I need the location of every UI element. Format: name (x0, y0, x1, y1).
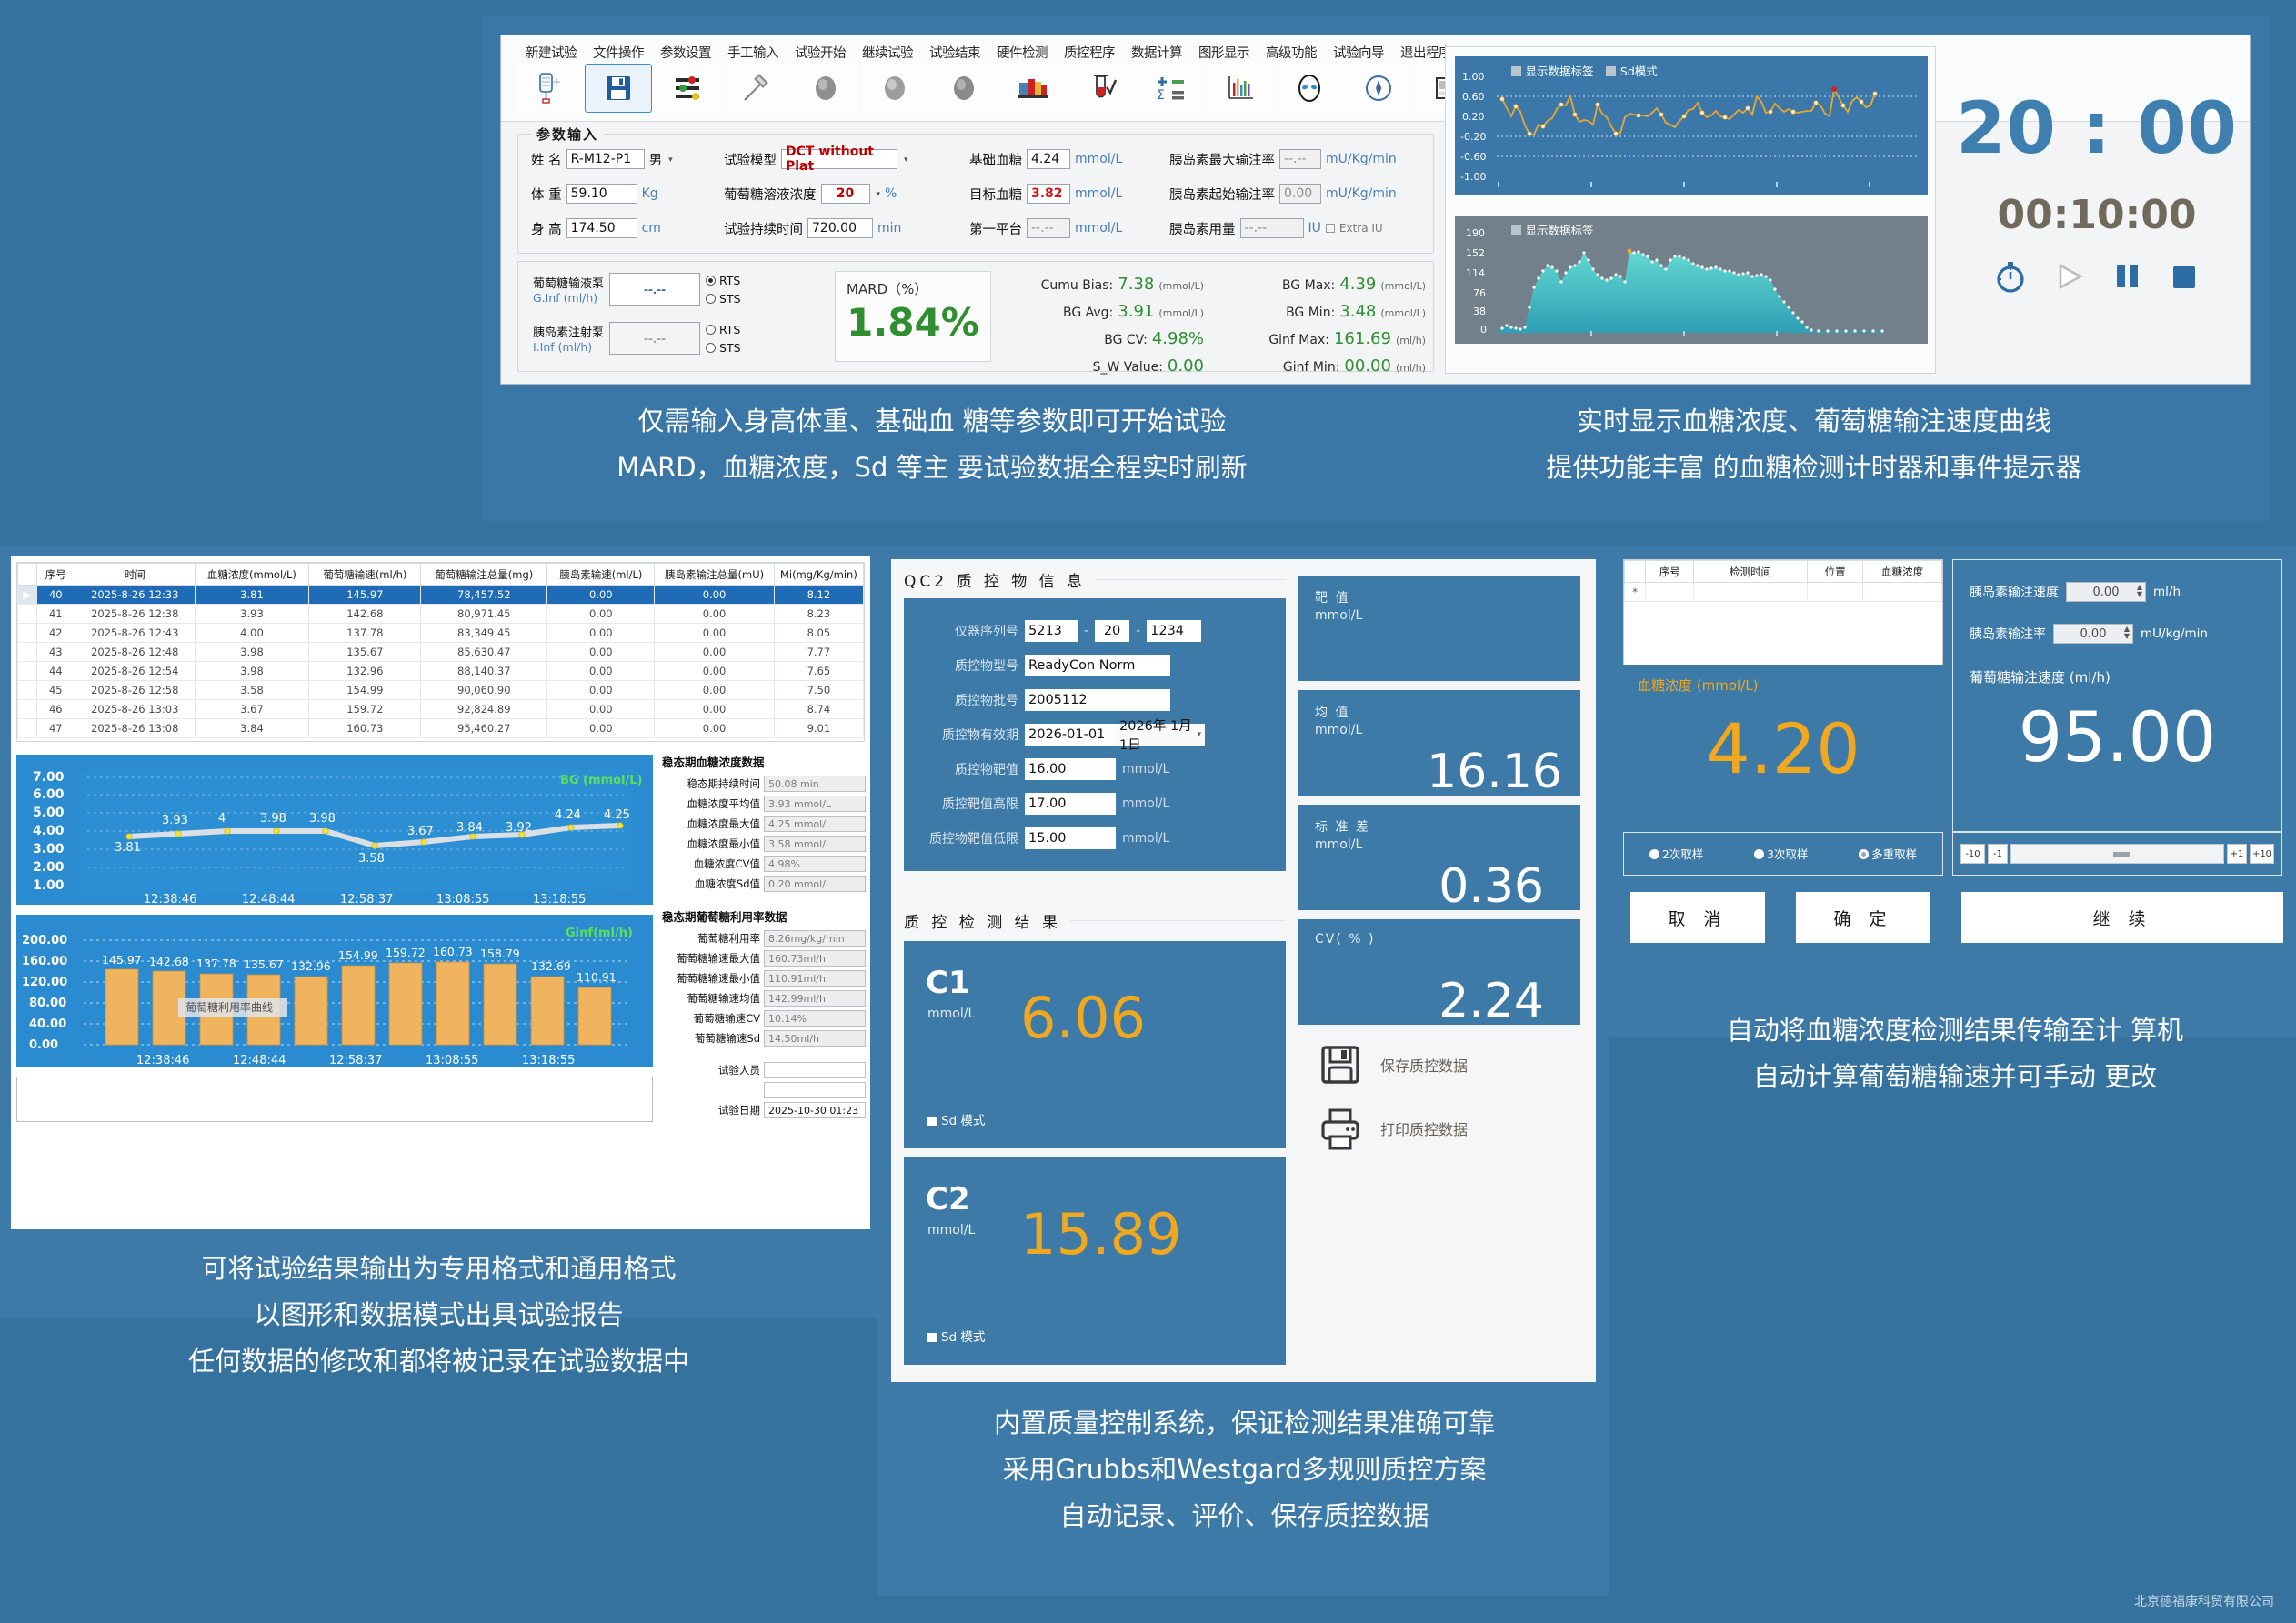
slider-thumb[interactable] (2113, 852, 2130, 857)
svg-text:110.91: 110.91 (577, 970, 617, 984)
stats-column-right: BG Max: 4.39 (mmol/L) BG Min: 3.48 (mmol… (1217, 275, 1426, 376)
sd-bias-chart[interactable]: 显示数据标签 Sd模式 1.000.600.20 -0.20-0.60-1.00 (1455, 56, 1928, 195)
qc-exp-input[interactable]: 2026-01-01 (1025, 724, 1116, 746)
svg-text:12:48:44: 12:48:44 (242, 893, 295, 905)
table-row[interactable]: ▶402025-8-26 12:333.81145.9778,457.520.0… (18, 586, 864, 605)
svg-text:13:18:55: 13:18:55 (533, 893, 586, 905)
cell-bg: 3.98 (195, 643, 309, 662)
ginf-max-label: Ginf Max: (1268, 333, 1329, 347)
cell-iinf: 0.00 (547, 700, 655, 719)
gi-stat-value-1: 160.73ml/h (764, 950, 866, 967)
ribbon-label-test-end[interactable]: 试验结束 (921, 43, 988, 62)
slider-minus10-button[interactable]: -10 (1960, 844, 1985, 864)
alien-advanced-icon[interactable] (1276, 64, 1343, 113)
test-date-label: 试验日期 (718, 1103, 760, 1117)
qc-low-label: 质控物靶值低限 (917, 829, 1018, 847)
bg-line-chart[interactable]: 7.006.005.004.003.002.001.00 3.813.9343.… (16, 755, 653, 905)
qc-target-input[interactable]: 16.00 (1025, 758, 1116, 780)
cell-time: 2025-8-26 12:38 (75, 605, 195, 624)
svg-text:12:58:37: 12:58:37 (340, 893, 393, 905)
svg-text:137.78: 137.78 (196, 957, 236, 970)
chevron-down-icon-conc[interactable]: ▾ (877, 189, 881, 199)
cell-time: 2025-8-26 12:54 (75, 662, 195, 681)
cumu-bias-value: 7.38 (1118, 275, 1154, 294)
right-caption-line1: 自动将血糖浓度检测结果传输至计 算机 (1619, 1007, 2291, 1054)
model-select[interactable]: DCT without Plat (781, 149, 897, 169)
svg-text:1.00: 1.00 (1462, 71, 1485, 83)
bg-stat-value-3: 3.58 mmol/L (764, 836, 866, 852)
ribbon-label-test-start[interactable]: 试验开始 (787, 43, 854, 62)
duration-input[interactable]: 720.00 (807, 218, 873, 238)
measurement-empty-row[interactable]: * (1625, 583, 1942, 602)
target-tile-unit: mmol/L (1315, 608, 1362, 623)
top-caption-left-line2: MARD，血糖浓度，Sd 等主 要试验数据全程实时刷新 (509, 445, 1355, 491)
right-captions: 自动将血糖浓度检测结果传输至计 算机 自动计算葡萄糖输速并可手动 更改 (1619, 1007, 2291, 1100)
svg-text:0.00: 0.00 (29, 1038, 58, 1052)
extra-iu-checkbox[interactable] (1326, 224, 1335, 233)
row-marker (18, 605, 37, 624)
th-bg[interactable]: 血糖浓度(mmol/L) (195, 564, 309, 586)
ginf-bar-chart[interactable]: 200.00160.00120.0080.0040.000.00 145.971… (16, 915, 653, 1067)
main-app-window: 新建试验 文件操作 参数设置 手工输入 试验开始 继续试验 试验结束 硬件检测 … (500, 35, 2251, 385)
action-buttons: 取 消 确 定 继 续 (1630, 892, 2283, 943)
bg-cv-label: BG CV: (1104, 333, 1148, 347)
ginf-chart-legend: Ginf(ml/h) (566, 927, 633, 940)
chart-area: 显示数据标签 Sd模式 1.000.600.20 -0.20-0.60-1.00 (1445, 46, 1936, 374)
play-icon[interactable] (2050, 258, 2087, 295)
serial-dash-1: - (1084, 624, 1088, 638)
insulin-max-input[interactable]: --.-- (1279, 149, 1321, 169)
base-bg-input[interactable]: 4.24 (1027, 149, 1070, 169)
insulin-start-input[interactable]: 0.00 (1279, 184, 1321, 204)
bg-stat-label-4: 血糖浓度CV值 (694, 857, 760, 871)
svg-text:13:08:55: 13:08:55 (436, 893, 489, 905)
stopwatch-icon[interactable] (1992, 258, 2029, 295)
pause-icon[interactable] (2109, 258, 2145, 295)
sd-tile-value: 0.36 (1439, 859, 1544, 914)
th-itotal[interactable]: 胰岛素输注总量(mU) (655, 564, 774, 586)
cell-bg: 3.84 (195, 719, 309, 738)
svg-text:3.81: 3.81 (115, 841, 141, 855)
slider-plus10-button[interactable]: +10 (2250, 844, 2274, 864)
insulin-max-unit: mU/Kg/min (1326, 152, 1397, 166)
svg-text:-1.00: -1.00 (1460, 171, 1486, 183)
ribbon-label-test-continue[interactable]: 继续试验 (854, 43, 921, 62)
target-tile-label: 靶 值 (1315, 588, 1349, 606)
mth-bg[interactable]: 血糖浓度 (1863, 561, 1942, 583)
serial-input-b[interactable]: 20 (1095, 620, 1129, 642)
ribbon-label-file-ops[interactable]: 文件操作 (585, 43, 652, 62)
svg-text:40.00: 40.00 (29, 1017, 66, 1031)
test-tube-check-icon[interactable] (1068, 64, 1136, 113)
c2-tile[interactable]: C2 mmol/L 15.89 Sd 模式 (904, 1157, 1286, 1365)
left-caption-line3: 任何数据的修改和都将被记录在试验数据中 (18, 1338, 859, 1385)
data-calc-icon[interactable]: Σ (1138, 64, 1205, 113)
c1-code: C1 (926, 965, 970, 1001)
svg-text:158.79: 158.79 (480, 947, 520, 960)
c1-tile[interactable]: C1 mmol/L 6.06 Sd 模式 (904, 941, 1286, 1148)
insulin-dose-label: 胰岛素用量 (1169, 219, 1236, 238)
row-marker (18, 719, 37, 738)
serial-input-c[interactable]: 1234 (1147, 620, 1201, 642)
cell-bg: 3.93 (195, 605, 309, 624)
svg-text:114: 114 (1466, 267, 1485, 279)
weight-label: 体 重 (531, 185, 562, 204)
countdown-timer: 20 : 00 (1956, 88, 2238, 170)
ribbon-label-hardware-check[interactable]: 硬件检测 (988, 43, 1056, 62)
cell-ginf: 132.96 (309, 662, 421, 681)
th-ginf[interactable]: 葡萄糖输速(ml/h) (309, 564, 421, 586)
qc-low-unit: mmol/L (1122, 831, 1169, 846)
c1-sd-mode-checkbox[interactable] (927, 1117, 937, 1126)
insulin-start-unit: mU/Kg/min (1326, 186, 1397, 201)
th-time[interactable]: 时间 (75, 564, 195, 586)
table-row[interactable]: 442025-8-26 12:543.98132.9688,140.370.00… (18, 662, 864, 681)
svg-text:142.68: 142.68 (149, 955, 189, 968)
measurement-header-row: 序号 检测时间 位置 血糖浓度 (1625, 561, 1942, 583)
gi-stat-value-5: 14.50ml/h (764, 1030, 866, 1047)
results-table: 序号 时间 血糖浓度(mmol/L) 葡萄糖输速(ml/h) 葡萄糖输注总量(m… (17, 563, 864, 738)
insulin-max-label: 胰岛素最大输注率 (1169, 150, 1275, 169)
ginf-min-unit: (ml/h) (1396, 362, 1426, 374)
insulin-speed-spinner[interactable]: ▲▼ (2137, 584, 2142, 598)
syringe-icon[interactable] (723, 64, 790, 113)
save-qc-button[interactable]: 保存质控数据 (1298, 1041, 1580, 1088)
height-label: 身 高 (531, 219, 562, 238)
qc-exp-label: 质控物有效期 (917, 726, 1018, 744)
gi-stat-value-3: 142.99ml/h (764, 990, 866, 1007)
row-marker-new: * (1625, 583, 1646, 602)
cell-itotal: 0.00 (655, 681, 774, 700)
table-row[interactable]: 422025-8-26 12:434.00137.7883,349.450.00… (18, 624, 864, 643)
svg-text:132.96: 132.96 (291, 959, 331, 973)
steady-state-bg-stats: 稳态期血糖浓度数据 稳态期持续时间50.08 min 血糖浓度平均值3.93 m… (662, 753, 866, 896)
svg-text:12:48:44: 12:48:44 (233, 1054, 286, 1067)
bg-stat-value-2: 4.25 mmol/L (764, 816, 866, 832)
bg-stat-label-3: 血糖浓度最小值 (687, 837, 761, 851)
qc-summary-tiles: 靶 值 mmol/L 均 值 mmol/L 16.16 标 准 差 mmol/L… (1298, 576, 1580, 1152)
continue-button[interactable]: 继 续 (1961, 892, 2283, 943)
plateau1-unit: mmol/L (1075, 221, 1122, 235)
th-mi[interactable]: Mi(mg/Kg/min) (774, 564, 863, 586)
cell-iinf: 0.00 (547, 681, 655, 700)
sampling-radio-3x[interactable] (1754, 849, 1764, 859)
row-marker-header (1625, 561, 1646, 583)
ribbon-label-graph-display[interactable]: 图形显示 (1190, 43, 1258, 62)
serial-input-a[interactable]: 5213 (1025, 620, 1078, 642)
svg-text:3.92: 3.92 (506, 821, 532, 835)
insulin-dose-input[interactable]: --.-- (1240, 218, 1304, 238)
qc-target-label: 质控物靶值 (917, 760, 1018, 778)
bg-stats-heading: 稳态期血糖浓度数据 (662, 753, 866, 770)
status-group: 葡萄糖输液泵 G.Inf (ml/h) --.-- RTS STS 胰岛素注射泵… (517, 261, 1434, 372)
sd-bias-chart-svg: 1.000.600.20 -0.20-0.60-1.00 (1455, 56, 1928, 195)
qc-captions: 内置质量控制系统，保证检测结果准确可靠 采用Grubbs和Westgard多规则… (892, 1400, 1597, 1538)
right-window: 序号 检测时间 位置 血糖浓度 * 血糖浓度 (mmol/L) 4.20 胰岛素… (1623, 559, 2282, 1032)
extra-iu-label: Extra IU (1339, 222, 1383, 235)
table-row[interactable]: 452025-8-26 12:583.58154.9990,060.900.00… (18, 681, 864, 700)
cell-bg: 4.00 (195, 624, 309, 643)
gi-stat-label-2: 葡萄糖输速最小值 (677, 971, 760, 986)
insulin-speed-value: 0.00 (2093, 586, 2120, 599)
bg-stat-label-1: 血糖浓度平均值 (687, 796, 761, 811)
operator-input-2[interactable] (764, 1082, 866, 1098)
gi-stats-heading: 稳态期葡萄糖利用率数据 (662, 907, 866, 925)
duration-unit: min (877, 221, 901, 235)
svg-text:160.73: 160.73 (433, 945, 473, 958)
cell-index: 40 (36, 586, 75, 605)
right-feature-panel: 序号 检测时间 位置 血糖浓度 * 血糖浓度 (mmol/L) 4.20 胰岛素… (1609, 546, 2296, 1037)
th-gtotal[interactable]: 葡萄糖输注总量(mg) (421, 564, 547, 586)
timer-panel: 20 : 00 00:10:00 (1956, 54, 2238, 363)
mard-box: MARD（%） 1.84% (835, 271, 991, 362)
serial-dash-2: - (1136, 624, 1140, 638)
svg-text:190: 190 (1466, 227, 1485, 239)
qc-feature-panel: QC2 质 控 物 信 息 仪器序列号 5213 - 20 - 1234 质控物… (877, 546, 1609, 1596)
target-bg-input[interactable]: 3.82 (1027, 184, 1070, 204)
qc-high-input[interactable]: 17.00 (1025, 793, 1116, 815)
glucose-pump-sts-label: STS (719, 292, 741, 306)
svg-text:3.58: 3.58 (358, 852, 385, 866)
cancel-button[interactable]: 取 消 (1630, 892, 1765, 943)
cell-ginf: 137.78 (309, 624, 421, 643)
qc-caption-line2: 采用Grubbs和Westgard多规则质控方案 (892, 1447, 1597, 1493)
cell-bg: 3.81 (195, 586, 309, 605)
sampling-options: 2次取样 3次取样 多重取样 (1623, 832, 1943, 876)
slider-plus1-button[interactable]: +1 (2227, 844, 2247, 864)
results-table-container[interactable]: 序号 时间 血糖浓度(mmol/L) 葡萄糖输速(ml/h) 葡萄糖输注总量(m… (16, 562, 865, 742)
elapsed-timer: 00:10:00 (1956, 192, 2238, 238)
mth-index[interactable]: 序号 (1646, 561, 1694, 583)
cell-index: 41 (36, 605, 75, 624)
insulin-pump-sts-radio[interactable] (706, 343, 716, 353)
bg-max-value: 4.39 (1339, 275, 1376, 294)
cell-ginf: 142.68 (309, 605, 421, 624)
cell-ginf: 159.72 (309, 700, 421, 719)
insulin-speed-input[interactable]: 0.00 ▲▼ (2066, 582, 2146, 602)
svg-text:4.24: 4.24 (555, 808, 581, 822)
compass-wizard-icon[interactable] (1345, 64, 1412, 113)
table-row[interactable]: 462025-8-26 13:033.67159.7292,824.890.00… (18, 700, 864, 719)
gi-stat-value-0: 8.26mg/kg/min (764, 930, 866, 947)
cell-bg: 3.58 (195, 681, 309, 700)
svg-text:13:18:55: 13:18:55 (522, 1054, 575, 1067)
glucose-infusion-chart[interactable]: 显示数据标签 19015211476380 (1455, 216, 1928, 344)
qc-info-title: QC2 质 控 物 信 息 (904, 568, 1086, 591)
cell-itotal: 0.00 (655, 624, 774, 643)
height-unit: cm (642, 221, 661, 235)
bg-stat-label-2: 血糖浓度最大值 (687, 817, 761, 831)
mean-tile: 均 值 mmol/L 16.16 (1298, 690, 1580, 796)
chevron-down-icon-date[interactable]: ▾ (1197, 730, 1201, 739)
gi-stat-label-3: 葡萄糖输速均值 (687, 991, 761, 1006)
qc-model-label: 质控物型号 (917, 656, 1018, 675)
gender-value[interactable]: 男 (649, 150, 663, 169)
footer-credit: 北京德福康科贸有限公司 (2134, 1592, 2274, 1610)
insulin-pump-rts-radio[interactable] (706, 325, 716, 335)
c2-code: C2 (926, 1181, 970, 1217)
ginf-tile-value: 95.00 (1953, 696, 2281, 777)
ribbon-label-new-test[interactable]: 新建试验 (517, 43, 585, 62)
svg-text:0: 0 (1480, 324, 1487, 336)
operator-input[interactable] (764, 1062, 866, 1078)
glucose-pump-rts-radio[interactable] (706, 276, 716, 286)
ginf-max-value: 161.69 (1334, 329, 1391, 348)
save-qc-label: 保存质控数据 (1380, 1054, 1468, 1076)
slider-track[interactable] (2010, 844, 2224, 864)
results-window: 序号 时间 血糖浓度(mmol/L) 葡萄糖输速(ml/h) 葡萄糖输注总量(m… (11, 556, 870, 1229)
c2-sd-mode-label: Sd 模式 (941, 1330, 985, 1345)
svg-text:4.00: 4.00 (33, 824, 65, 838)
insulin-speed-label: 胰岛素输注速度 (1970, 583, 2059, 601)
insulin-rate-spinner[interactable]: ▲▼ (2124, 626, 2130, 640)
ribbon-label-qc-program[interactable]: 质控程序 (1056, 43, 1123, 62)
cell-itotal: 0.00 (655, 719, 774, 738)
cell-index: 46 (36, 700, 75, 719)
cell-ginf: 160.73 (309, 719, 421, 738)
sampling-radio-2x[interactable] (1649, 849, 1659, 859)
hardware-device-icon[interactable] (999, 64, 1067, 113)
qc-result-title: 质 控 检 测 结 果 (904, 909, 1061, 932)
table-row[interactable]: 472025-8-26 13:083.84160.7395,460.270.00… (18, 719, 864, 738)
ellipse-gray-icon-3[interactable] (930, 64, 998, 113)
ribbon-label-manual-input[interactable]: 手工输入 (719, 43, 787, 62)
settings-sliders-icon[interactable] (654, 64, 721, 113)
results-feature-panel: 序号 时间 血糖浓度(mmol/L) 葡萄糖输速(ml/h) 葡萄糖输注总量(m… (0, 546, 877, 1318)
bg-tile-label: 血糖浓度 (mmol/L) (1638, 676, 1758, 695)
chevron-down-icon-model[interactable]: ▾ (904, 155, 908, 165)
chart-display-icon[interactable] (1207, 64, 1274, 113)
th-iinf[interactable]: 胰岛素输速(ml/L) (547, 564, 655, 586)
infusion-control-tile: 胰岛素输注速度 0.00 ▲▼ ml/h 胰岛素输注率 0.00 ▲▼ mU/k… (1952, 559, 2282, 832)
notes-input[interactable] (16, 1077, 653, 1122)
ribbon-label-data-calc[interactable]: 数据计算 (1123, 43, 1190, 62)
cumu-bias-unit: (mmol/L) (1158, 280, 1204, 292)
duration-label: 试验持续时间 (724, 219, 803, 238)
stop-icon[interactable] (2167, 259, 2201, 294)
svg-text:-0.60: -0.60 (1460, 151, 1486, 163)
ellipse-gray-icon-1[interactable] (792, 64, 859, 113)
top-caption-left-line1: 仅需输入身高体重、基础血 糖等参数即可开始试验 (509, 398, 1355, 445)
glucose-pump-sub: G.Inf (ml/h) (533, 291, 604, 305)
qc-exp-display[interactable]: 2026年 1月 1日▾ (1116, 724, 1205, 746)
svg-text:3.98: 3.98 (309, 812, 336, 826)
sd-tile-unit: mmol/L (1315, 837, 1362, 852)
sampling-radio-multi[interactable] (1859, 849, 1869, 859)
svg-text:Σ: Σ (1157, 88, 1165, 103)
bg-stat-label-5: 血糖浓度Sd值 (695, 877, 760, 891)
svg-text:3.98: 3.98 (260, 812, 286, 826)
plateau1-input[interactable]: --.-- (1027, 218, 1070, 238)
sw-value-value: 0.00 (1168, 356, 1204, 376)
svg-text:3.84: 3.84 (456, 821, 483, 835)
table-row[interactable]: 412025-8-26 12:383.93142.6880,971.450.00… (18, 605, 864, 624)
glucose-pump-rts-label: RTS (719, 274, 740, 287)
sampling-label-2x: 2次取样 (1662, 847, 1703, 861)
top-caption-left: 仅需输入身高体重、基础血 糖等参数即可开始试验 MARD，血糖浓度，Sd 等主 … (509, 398, 1355, 491)
bg-avg-unit: (mmol/L) (1158, 307, 1204, 319)
insulin-start-label: 胰岛素起始输注率 (1169, 185, 1275, 204)
confirm-button[interactable]: 确 定 (1796, 892, 1930, 943)
gi-stat-value-2: 110.91ml/h (764, 970, 866, 987)
insulin-rate-input[interactable]: 0.00 ▲▼ (2053, 624, 2133, 644)
height-input[interactable]: 174.50 (566, 218, 637, 238)
ginf-min-value: 00.00 (1344, 356, 1391, 376)
bg-avg-value: 3.91 (1118, 302, 1154, 321)
qc-caption-line3: 自动记录、评价、保存质控数据 (892, 1493, 1597, 1539)
insulin-pump-display: --.-- (609, 322, 700, 355)
mth-time[interactable]: 检测时间 (1694, 561, 1808, 583)
cv-tile-value: 2.24 (1439, 974, 1544, 1028)
print-qc-button[interactable]: 打印质控数据 (1298, 1105, 1580, 1152)
gi-stat-label-5: 葡萄糖输速Sd (695, 1031, 760, 1046)
sampling-label-multi: 多重取样 (1871, 847, 1917, 861)
chevron-down-icon[interactable]: ▾ (668, 155, 673, 165)
c2-unit: mmol/L (927, 1223, 975, 1237)
weight-input[interactable]: 59.10 (566, 184, 637, 204)
glucose-conc-unit: % (885, 186, 897, 201)
ribbon-label-test-wizard[interactable]: 试验向导 (1325, 43, 1392, 62)
ribbon-label-param-settings[interactable]: 参数设置 (652, 43, 719, 62)
mean-tile-value: 16.16 (1427, 745, 1562, 799)
ginf-max-unit: (ml/h) (1396, 335, 1426, 346)
ginf-chart-tooltip: 葡萄糖利用率曲线 (185, 1000, 273, 1014)
qc-model-input[interactable]: ReadyCon Norm (1025, 655, 1170, 676)
cell-mi: 9.01 (774, 719, 863, 738)
cell-itotal: 0.00 (655, 662, 774, 681)
qc-lot-input[interactable]: 2005112 (1025, 689, 1170, 711)
top-caption-right: 实时显示血糖浓度、葡萄糖输注速度曲线 提供功能丰富 的血糖检测计时器和事件提示器 (1382, 398, 2246, 491)
iv-bag-icon[interactable] (516, 64, 583, 113)
table-row[interactable]: 432025-8-26 12:483.98135.6785,630.470.00… (18, 643, 864, 662)
measurement-table: 序号 检测时间 位置 血糖浓度 * (1624, 560, 1942, 602)
th-index[interactable]: 序号 (36, 564, 75, 586)
insulin-rate-unit: mU/kg/min (2141, 626, 2208, 641)
sd-tile: 标 准 差 mmol/L 0.36 (1298, 805, 1580, 910)
bg-chart-legend: BG (mmol/L) (560, 774, 643, 787)
parameter-input-group: 参数输入 姓 名 R-M12-P1 男 ▾ 体 重 59.10 Kg 身 高 1… (517, 134, 1434, 254)
slider-minus1-button[interactable]: -1 (1988, 844, 2008, 864)
cell-mi: 8.05 (774, 624, 863, 643)
qc-high-unit: mmol/L (1122, 796, 1169, 811)
top-feature-panel: 新建试验 文件操作 参数设置 手工输入 试验开始 继续试验 试验结束 硬件检测 … (482, 16, 2269, 521)
name-label: 姓 名 (531, 150, 562, 169)
svg-text:13:08:55: 13:08:55 (426, 1054, 478, 1067)
cell-gtotal: 95,460.27 (421, 719, 547, 738)
name-input[interactable]: R-M12-P1 (566, 149, 645, 169)
save-disk-icon[interactable] (585, 64, 652, 113)
c2-sd-mode-checkbox[interactable] (927, 1333, 937, 1342)
ellipse-gray-icon-2[interactable] (861, 64, 928, 113)
ribbon-label-advanced[interactable]: 高级功能 (1258, 43, 1325, 62)
steady-state-gi-stats: 稳态期葡萄糖利用率数据 葡萄糖利用率8.26mg/kg/min 葡萄糖输速最大值… (662, 907, 866, 1050)
qc-high-label: 质控靶值高限 (917, 795, 1018, 813)
cell-itotal: 0.00 (655, 586, 774, 605)
glucose-conc-select[interactable]: 20 (821, 184, 870, 204)
cell-itotal: 0.00 (655, 605, 774, 624)
mth-position[interactable]: 位置 (1807, 561, 1862, 583)
cell-bg: 3.98 (195, 662, 309, 681)
bg-max-label: BG Max: (1282, 278, 1335, 293)
bg-tile-value: 4.20 (1623, 708, 1943, 789)
svg-text:38: 38 (1473, 306, 1486, 317)
qc-low-input[interactable]: 15.00 (1025, 827, 1116, 849)
insulin-pump-sts-label: STS (719, 341, 741, 355)
ginf-tile-label: 葡萄糖输注速度 (ml/h) (1970, 667, 2111, 686)
c1-value: 6.06 (1020, 985, 1146, 1051)
cell-ginf: 154.99 (309, 681, 421, 700)
glucose-pump-sts-radio[interactable] (706, 294, 716, 304)
